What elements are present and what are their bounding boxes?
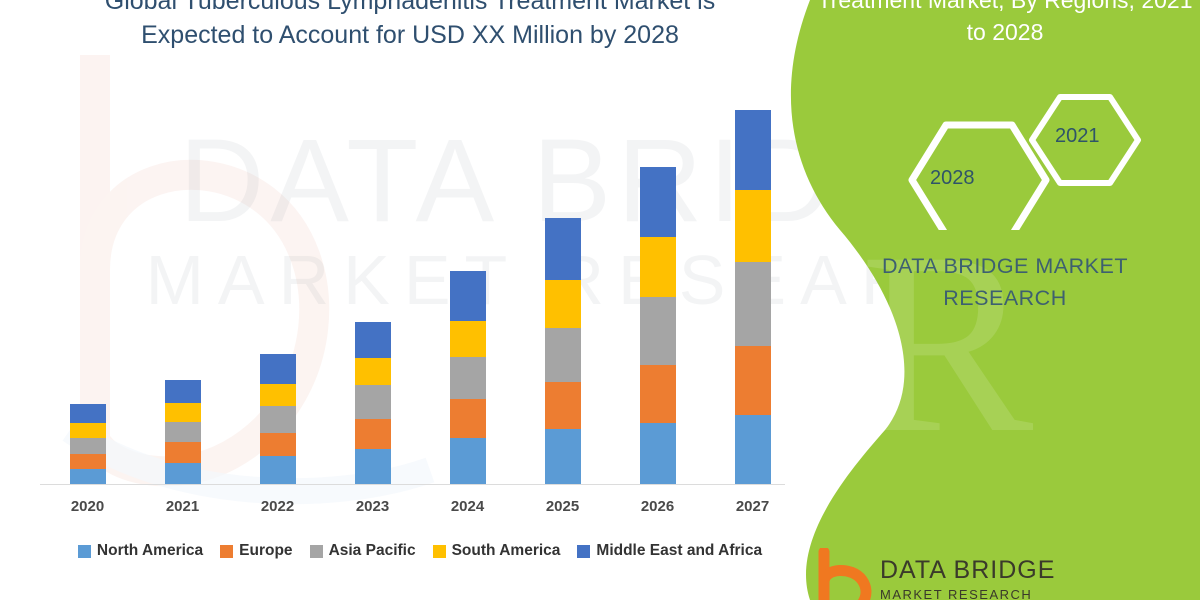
plot-area [40, 110, 800, 485]
legend-item[interactable]: North America [78, 542, 203, 560]
bar-segment[interactable] [260, 433, 296, 457]
bar-group[interactable] [735, 110, 771, 485]
bar-segment[interactable] [70, 454, 106, 469]
bar-segment[interactable] [450, 399, 486, 438]
bar-segment[interactable] [735, 415, 771, 485]
bar-segment[interactable] [640, 365, 676, 423]
legend-swatch [577, 545, 590, 558]
legend-swatch [78, 545, 91, 558]
bar-segment[interactable] [70, 404, 106, 423]
brand-line2: RESEARCH [943, 286, 1066, 310]
bar-segment[interactable] [355, 385, 391, 418]
bar-segment[interactable] [165, 463, 201, 486]
bar-group[interactable] [450, 271, 486, 485]
chart-legend: North AmericaEuropeAsia PacificSouth Ame… [40, 538, 800, 564]
x-axis: 20202021202220232024202520262027 [40, 494, 800, 522]
chart-title: Global Tuberculous Lymphadenitis Treatme… [60, 0, 760, 52]
x-axis-tick-label: 2023 [328, 498, 418, 515]
bar-segment[interactable] [640, 297, 676, 365]
x-axis-tick-label: 2021 [138, 498, 228, 515]
bar-segment[interactable] [70, 438, 106, 454]
legend-label: Asia Pacific [329, 542, 416, 560]
bar-group[interactable] [545, 218, 581, 485]
bar-group[interactable] [640, 167, 676, 485]
axis-baseline [40, 484, 785, 485]
bar-segment[interactable] [640, 167, 676, 237]
bar-segment[interactable] [165, 442, 201, 462]
bar-group[interactable] [260, 354, 296, 485]
bar-segment[interactable] [735, 346, 771, 416]
logo-text: DATA BRIDGE [880, 556, 1055, 585]
bar-segment[interactable] [260, 354, 296, 384]
bar-segment[interactable] [355, 322, 391, 358]
bar-segment[interactable] [735, 262, 771, 346]
x-axis-tick-label: 2026 [613, 498, 703, 515]
green-panel-title: Treatment Market, By Regions, 2021 to 20… [810, 0, 1200, 48]
x-axis-tick-label: 2024 [423, 498, 513, 515]
legend-item[interactable]: Middle East and Africa [577, 542, 762, 560]
bar-segment[interactable] [545, 280, 581, 328]
bar-group[interactable] [70, 404, 106, 485]
brand-line1: DATA BRIDGE MARKET [882, 254, 1128, 278]
hexagon-pair: 2028 2021 [870, 85, 1170, 230]
x-axis-tick-label: 2022 [233, 498, 323, 515]
bar-segment[interactable] [355, 419, 391, 449]
bar-segment[interactable] [735, 110, 771, 190]
bar-segment[interactable] [70, 469, 106, 485]
x-axis-tick-label: 2020 [43, 498, 133, 515]
svg-text:R: R [860, 199, 1035, 487]
legend-swatch [310, 545, 323, 558]
bar-segment[interactable] [70, 423, 106, 438]
bar-segment[interactable] [450, 271, 486, 321]
bar-segment[interactable] [355, 358, 391, 385]
hexagon-2028-label: 2028 [930, 167, 975, 190]
bar-group[interactable] [165, 380, 201, 485]
legend-label: North America [97, 542, 203, 560]
bar-segment[interactable] [165, 422, 201, 442]
legend-label: Middle East and Africa [596, 542, 762, 560]
chart-screenshot: DATA BRIDGE MARKET RESEARCH Global Tuber… [0, 0, 1200, 600]
green-panel: R Treatment Market, By Regions, 2021 to … [780, 0, 1200, 600]
bar-segment[interactable] [735, 190, 771, 262]
legend-item[interactable]: Asia Pacific [310, 542, 416, 560]
brand-text: DATA BRIDGE MARKET RESEARCH [840, 250, 1170, 314]
bar-segment[interactable] [545, 328, 581, 382]
bar-segment[interactable] [640, 423, 676, 485]
bar-segment[interactable] [260, 384, 296, 405]
chart-panel: Global Tuberculous Lymphadenitis Treatme… [0, 0, 830, 600]
bar-segment[interactable] [545, 382, 581, 429]
legend-swatch [433, 545, 446, 558]
bar-segment[interactable] [545, 218, 581, 280]
x-axis-tick-label: 2025 [518, 498, 608, 515]
bar-segment[interactable] [260, 456, 296, 485]
bar-segment[interactable] [165, 380, 201, 403]
bar-segment[interactable] [545, 429, 581, 485]
legend-label: Europe [239, 542, 292, 560]
legend-label: South America [452, 542, 561, 560]
legend-item[interactable]: Europe [220, 542, 292, 560]
bar-segment[interactable] [355, 449, 391, 485]
bar-segment[interactable] [450, 357, 486, 399]
legend-item[interactable]: South America [433, 542, 561, 560]
bar-segment[interactable] [640, 237, 676, 297]
bar-segment[interactable] [165, 403, 201, 423]
bar-segment[interactable] [450, 321, 486, 357]
hexagon-2021-label: 2021 [1055, 125, 1100, 148]
bar-group[interactable] [355, 322, 391, 485]
bar-segment[interactable] [260, 406, 296, 433]
bar-segment[interactable] [450, 438, 486, 485]
legend-swatch [220, 545, 233, 558]
logo-subtext: MARKET RESEARCH [880, 587, 1032, 600]
company-logo: DATA BRIDGE MARKET RESEARCH [810, 534, 1140, 600]
